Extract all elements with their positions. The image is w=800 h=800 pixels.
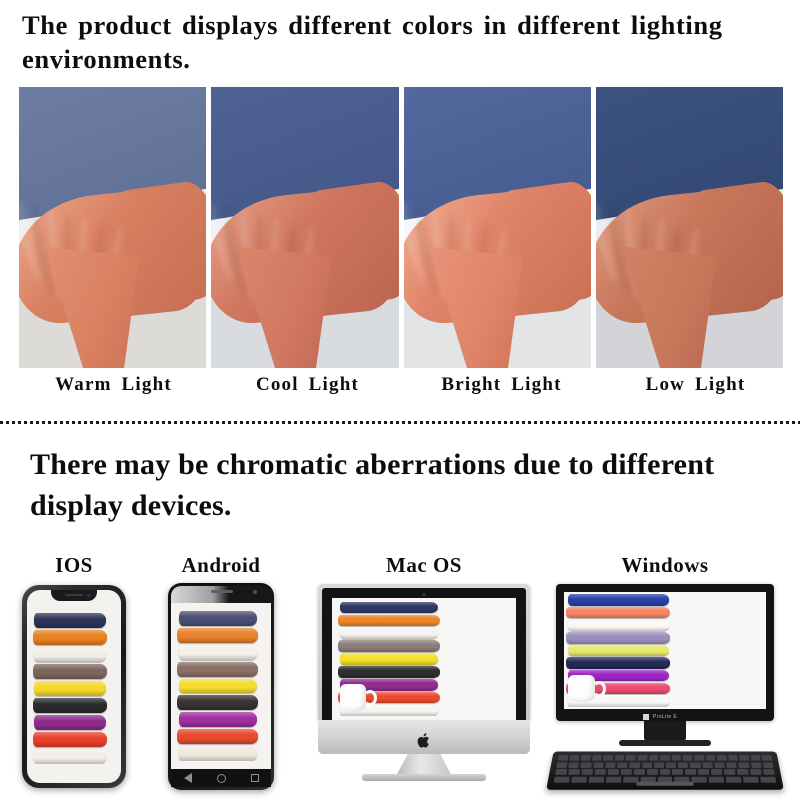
keyboard-key[interactable]	[709, 776, 725, 782]
folded-linen-item	[338, 615, 440, 627]
folded-linen-item	[568, 594, 669, 605]
lighting-panel	[404, 87, 591, 368]
linen-stack-android	[177, 611, 259, 760]
folded-linen-item	[34, 681, 106, 696]
folded-linen-item	[340, 653, 439, 665]
folded-linen-item	[33, 698, 107, 713]
folded-linen-item	[179, 746, 258, 761]
folded-linen-item	[179, 679, 258, 694]
folded-linen-item	[566, 607, 670, 618]
folded-linen-item	[179, 645, 258, 660]
folded-linen-item	[179, 611, 258, 626]
keyboard-key[interactable]	[692, 776, 707, 782]
keyboard-key[interactable]	[581, 762, 592, 768]
lighting-comparison-section: The product displays different colors in…	[0, 0, 800, 423]
keyboard-key[interactable]	[751, 755, 761, 761]
keyboard-key[interactable]	[743, 776, 759, 782]
keyboard-key[interactable]	[617, 762, 628, 768]
folded-linen-item	[566, 657, 670, 668]
recents-square-icon[interactable]	[251, 774, 259, 782]
keyboard-key[interactable]	[690, 762, 700, 768]
device-label-android: Android	[168, 553, 274, 578]
android-topbar	[171, 586, 271, 603]
keyboard-key[interactable]	[724, 769, 736, 775]
android-earpiece-icon	[211, 590, 233, 593]
lighting-panel-caption: Bright Light	[407, 374, 596, 396]
keyboard-key[interactable]	[683, 755, 693, 761]
devices-section: There may be chromatic aberrations due t…	[0, 424, 800, 800]
keyboard-key[interactable]	[728, 755, 738, 761]
facetime-camera-icon	[423, 593, 426, 596]
iphone-body	[22, 585, 126, 788]
folded-linen-item	[33, 664, 107, 679]
keyboard-key[interactable]	[571, 776, 587, 782]
keyboard-key[interactable]	[555, 769, 567, 775]
lighting-panel	[19, 87, 206, 368]
keyboard-key[interactable]	[556, 762, 567, 768]
keyboard-key[interactable]	[649, 755, 658, 761]
folded-linen-item	[34, 749, 106, 764]
folded-linen-item	[340, 627, 439, 639]
keyboard-key[interactable]	[714, 762, 725, 768]
keyboard-key[interactable]	[666, 762, 676, 768]
keyboard-row	[558, 755, 773, 761]
windows-monitor-neck	[644, 721, 686, 741]
keyboard-key[interactable]	[642, 762, 652, 768]
device-mockup-ios	[22, 585, 126, 788]
keyboard-key[interactable]	[702, 762, 713, 768]
linen-stack-ios	[33, 613, 108, 764]
folded-linen-item	[568, 620, 669, 631]
lighting-panel	[596, 87, 783, 368]
imac-screen	[332, 598, 516, 720]
monitor-brand-label: ProLite E	[653, 714, 677, 720]
folded-linen-item	[177, 662, 258, 677]
keyboard-key[interactable]	[762, 762, 773, 768]
keyboard-key[interactable]	[558, 755, 568, 761]
keyboard-key[interactable]	[592, 755, 602, 761]
linen-stack-macos	[338, 602, 441, 717]
devices-heading: There may be chromatic aberrations due t…	[30, 444, 770, 526]
keyboard-key[interactable]	[705, 755, 715, 761]
folded-linen-item	[340, 602, 439, 614]
keyboard-key[interactable]	[646, 769, 657, 775]
linen-stack-windows	[566, 594, 671, 706]
keyboard-key[interactable]	[615, 755, 625, 761]
keyboard-key[interactable]	[763, 769, 775, 775]
iphone-speaker-icon	[65, 594, 83, 597]
keyboard-key[interactable]	[737, 769, 749, 775]
lighting-panel-caption: Cool Light	[213, 374, 402, 396]
imac-stand-foot	[362, 774, 486, 781]
keyboard-key[interactable]	[581, 755, 591, 761]
device-label-ios: IOS	[22, 553, 126, 578]
iphone-screen	[27, 590, 121, 783]
keyboard-key[interactable]	[569, 762, 580, 768]
keyboard-key[interactable]	[633, 769, 644, 775]
mug-handle	[363, 690, 376, 706]
keyboard-key[interactable]	[593, 762, 604, 768]
folded-linen-item	[34, 647, 106, 662]
imac-bezel	[318, 584, 530, 720]
folded-linen-item	[338, 640, 440, 652]
android-screen	[171, 603, 271, 769]
keyboard-key[interactable]	[654, 762, 664, 768]
keyboard-key[interactable]	[698, 769, 709, 775]
folded-linen-item	[33, 732, 107, 747]
keyboard-key[interactable]	[607, 769, 618, 775]
windows-monitor-bezel: ProLite E	[556, 584, 774, 721]
apple-logo-icon	[417, 732, 432, 749]
folded-linen-item	[568, 645, 669, 656]
keyboard-spacebar[interactable]	[637, 782, 694, 786]
lighting-heading: The product displays different colors in…	[22, 8, 782, 76]
lighting-panel	[211, 87, 398, 368]
keyboard-key[interactable]	[626, 755, 636, 761]
home-circle-icon[interactable]	[217, 774, 226, 783]
keyboard-key[interactable]	[678, 762, 688, 768]
keyboard-key[interactable]	[637, 755, 647, 761]
keyboard-key[interactable]	[629, 762, 639, 768]
keyboard-key[interactable]	[594, 769, 606, 775]
folded-linen-item	[338, 666, 440, 678]
keyboard-key[interactable]	[726, 762, 737, 768]
android-camera-icon	[253, 590, 257, 594]
folded-linen-item	[179, 712, 258, 727]
keyboard-key[interactable]	[568, 769, 580, 775]
keyboard-key[interactable]	[581, 769, 593, 775]
keyboard-key[interactable]	[660, 755, 669, 761]
keyboard-key[interactable]	[762, 755, 772, 761]
folded-linen-item	[566, 632, 670, 643]
folded-linen-item	[34, 715, 106, 730]
keyboard-key[interactable]	[605, 762, 616, 768]
keyboard-key[interactable]	[750, 762, 761, 768]
device-mockup-android	[168, 583, 274, 790]
folded-linen-item	[33, 630, 107, 645]
device-label-macos: Mac OS	[318, 553, 530, 578]
keyboard-key[interactable]	[739, 755, 749, 761]
keyboard-key[interactable]	[760, 776, 776, 782]
folded-linen-item	[34, 613, 106, 628]
device-label-windows: Windows	[550, 553, 780, 578]
keyboard-key[interactable]	[694, 755, 704, 761]
keyboard-key[interactable]	[588, 776, 604, 782]
mug-handle	[592, 681, 606, 697]
keyboard-key[interactable]	[620, 769, 631, 775]
folded-linen-item	[177, 628, 258, 643]
keyboard-row	[555, 769, 775, 775]
windows-monitor-foot	[619, 740, 711, 746]
back-triangle-icon[interactable]	[184, 773, 192, 783]
imac-inner-frame	[322, 588, 526, 720]
keyboard-key[interactable]	[750, 769, 762, 775]
lighting-panel-caption: Low Light	[601, 374, 790, 396]
iphone-camera-icon	[87, 594, 91, 598]
windows-monitor-screen	[564, 592, 766, 709]
lighting-panel-row	[19, 87, 783, 368]
device-mockup-windows: ProLite E	[550, 584, 780, 792]
keyboard-key[interactable]	[569, 755, 579, 761]
device-mockup-macos	[318, 584, 530, 780]
keyboard-key[interactable]	[685, 769, 696, 775]
monitor-brand-mark-icon	[643, 714, 649, 720]
keyboard-key[interactable]	[606, 776, 622, 782]
android-navigation-bar	[171, 769, 271, 787]
keyboard-key[interactable]	[672, 769, 683, 775]
android-body	[168, 583, 274, 790]
folded-linen-item	[177, 729, 258, 744]
keyboard-key[interactable]	[726, 776, 742, 782]
keyboard-key[interactable]	[672, 755, 681, 761]
lighting-panel-caption: Warm Light	[19, 374, 208, 396]
keyboard-key[interactable]	[554, 776, 570, 782]
keyboard-key[interactable]	[738, 762, 749, 768]
folded-linen-item	[177, 695, 258, 710]
keyboard-row	[556, 762, 773, 768]
keyboard-key[interactable]	[603, 755, 613, 761]
keyboard-key[interactable]	[659, 769, 670, 775]
keyboard-key[interactable]	[711, 769, 722, 775]
windows-keyboard[interactable]	[546, 751, 784, 789]
keyboard-key[interactable]	[717, 755, 727, 761]
